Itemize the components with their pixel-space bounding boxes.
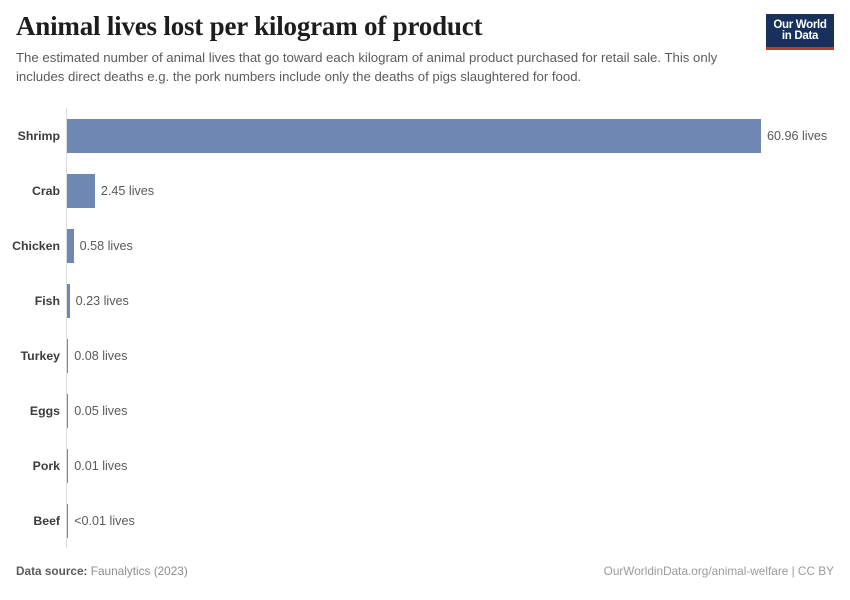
bar-rect[interactable] [67,504,68,538]
chart-header: Animal lives lost per kilogram of produc… [16,10,776,86]
page-title: Animal lives lost per kilogram of produc… [16,10,776,42]
bar-rect[interactable] [67,119,761,153]
bar-rect[interactable] [67,449,68,483]
bar-row[interactable]: Fish0.23 lives [0,273,850,328]
bar-category-label: Beef [0,514,60,528]
bar-rect[interactable] [67,284,70,318]
bar-category-label: Turkey [0,349,60,363]
bar-category-label: Shrimp [0,129,60,143]
bar-rect[interactable] [67,394,68,428]
bar-value-label: 0.08 lives [74,349,127,363]
bar-row[interactable]: Shrimp60.96 lives [0,108,850,163]
bar-rect[interactable] [67,174,95,208]
bar-row[interactable]: Pork0.01 lives [0,438,850,493]
bar-value-label: 0.05 lives [74,404,127,418]
bar-value-label: 0.01 lives [74,459,127,473]
bar-value-label: <0.01 lives [74,514,135,528]
bar-category-label: Chicken [0,239,60,253]
bar-category-label: Crab [0,184,60,198]
attribution-link[interactable]: OurWorldinData.org/animal-welfare | CC B… [604,564,834,578]
bar-row[interactable]: Crab2.45 lives [0,163,850,218]
data-source-value: Faunalytics (2023) [91,564,188,578]
owid-logo-accent-bar [766,47,834,50]
chart-subtitle: The estimated number of animal lives tha… [16,49,761,86]
bar-row[interactable]: Beef<0.01 lives [0,493,850,548]
bar-value-label: 0.23 lives [76,294,129,308]
bar-row[interactable]: Eggs0.05 lives [0,383,850,438]
bar-rect[interactable] [67,229,74,263]
data-source-label: Data source: [16,564,87,578]
chart-footer: Data source: Faunalytics (2023) OurWorld… [0,564,850,582]
bar-category-label: Pork [0,459,60,473]
data-source: Data source: Faunalytics (2023) [16,564,188,578]
bar-value-label: 0.58 lives [80,239,133,253]
bar-value-label: 2.45 lives [101,184,154,198]
bar-rect[interactable] [67,339,68,373]
bar-row[interactable]: Chicken0.58 lives [0,218,850,273]
bar-category-label: Fish [0,294,60,308]
owid-logo[interactable]: Our World in Data [766,14,834,50]
bar-row[interactable]: Turkey0.08 lives [0,328,850,383]
bar-value-label: 60.96 lives [767,129,827,143]
owid-logo-line2: in Data [766,30,834,47]
plot-area: Shrimp60.96 livesCrab2.45 livesChicken0.… [0,108,850,548]
bar-category-label: Eggs [0,404,60,418]
chart-container: Animal lives lost per kilogram of produc… [0,0,850,600]
